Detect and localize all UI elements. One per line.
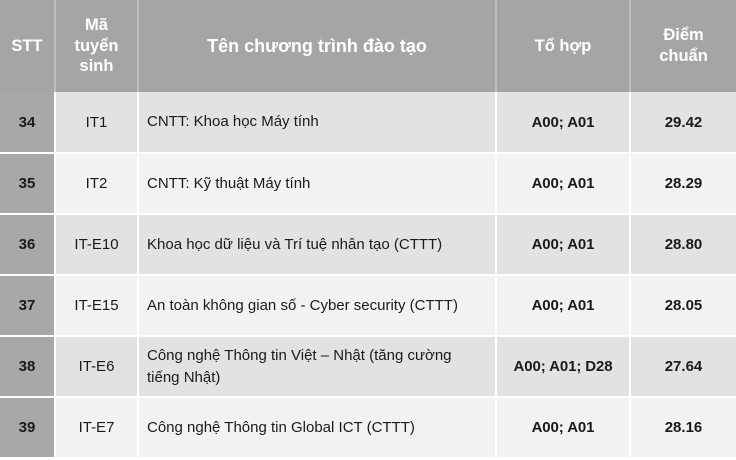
cell-benchmark-score: 27.64 — [630, 336, 736, 397]
table-header: STT Mã tuyển sinh Tên chương trình đào t… — [0, 0, 736, 92]
table-row: 34 IT1 CNTT: Khoa học Máy tính A00; A01 … — [0, 92, 736, 153]
table-header-row: STT Mã tuyển sinh Tên chương trình đào t… — [0, 0, 736, 92]
column-header-program-name: Tên chương trình đào tạo — [138, 0, 496, 92]
column-header-benchmark-score: Điểm chuẩn — [630, 0, 736, 92]
cell-admission-code: IT1 — [55, 92, 138, 153]
cell-program-name: An toàn không gian số - Cyber security (… — [138, 275, 496, 336]
cell-stt: 36 — [0, 214, 55, 275]
cell-admission-code: IT-E15 — [55, 275, 138, 336]
cell-benchmark-score: 28.05 — [630, 275, 736, 336]
cell-stt: 38 — [0, 336, 55, 397]
cell-subject-combination: A00; A01 — [496, 92, 630, 153]
cell-benchmark-score: 28.16 — [630, 397, 736, 458]
cell-subject-combination: A00; A01 — [496, 153, 630, 214]
table-row: 39 IT-E7 Công nghệ Thông tin Global ICT … — [0, 397, 736, 458]
cell-admission-code: IT-E10 — [55, 214, 138, 275]
cell-admission-code: IT-E7 — [55, 397, 138, 458]
cell-program-name: CNTT: Kỹ thuật Máy tính — [138, 153, 496, 214]
cell-admission-code: IT-E6 — [55, 336, 138, 397]
table-row: 35 IT2 CNTT: Kỹ thuật Máy tính A00; A01 … — [0, 153, 736, 214]
cell-stt: 39 — [0, 397, 55, 458]
column-header-admission-code-line3: sinh — [80, 57, 114, 75]
column-header-admission-code-line2: tuyển — [74, 37, 118, 55]
table-row: 36 IT-E10 Khoa học dữ liệu và Trí tuệ nh… — [0, 214, 736, 275]
cell-benchmark-score: 29.42 — [630, 92, 736, 153]
column-header-admission-code-line1: Mã — [85, 16, 108, 34]
admission-score-table: STT Mã tuyển sinh Tên chương trình đào t… — [0, 0, 736, 459]
cell-admission-code: IT2 — [55, 153, 138, 214]
cell-program-name: Khoa học dữ liệu và Trí tuệ nhân tạo (CT… — [138, 214, 496, 275]
column-header-admission-code: Mã tuyển sinh — [55, 0, 138, 92]
table-row: 37 IT-E15 An toàn không gian số - Cyber … — [0, 275, 736, 336]
column-header-stt: STT — [0, 0, 55, 92]
table-body: 34 IT1 CNTT: Khoa học Máy tính A00; A01 … — [0, 92, 736, 458]
cell-subject-combination: A00; A01 — [496, 397, 630, 458]
cell-subject-combination: A00; A01; D28 — [496, 336, 630, 397]
cell-subject-combination: A00; A01 — [496, 275, 630, 336]
cell-subject-combination: A00; A01 — [496, 214, 630, 275]
column-header-benchmark-score-line2: chuẩn — [659, 47, 708, 65]
cell-stt: 37 — [0, 275, 55, 336]
column-header-benchmark-score-line1: Điểm — [663, 26, 703, 44]
cell-stt: 35 — [0, 153, 55, 214]
column-header-subject-combination: Tổ hợp — [496, 0, 630, 92]
cell-program-name: Công nghệ Thông tin Việt – Nhật (tăng cư… — [138, 336, 496, 397]
cell-stt: 34 — [0, 92, 55, 153]
cell-benchmark-score: 28.80 — [630, 214, 736, 275]
cell-program-name: CNTT: Khoa học Máy tính — [138, 92, 496, 153]
cell-program-name: Công nghệ Thông tin Global ICT (CTTT) — [138, 397, 496, 458]
table-row: 38 IT-E6 Công nghệ Thông tin Việt – Nhật… — [0, 336, 736, 397]
cell-benchmark-score: 28.29 — [630, 153, 736, 214]
